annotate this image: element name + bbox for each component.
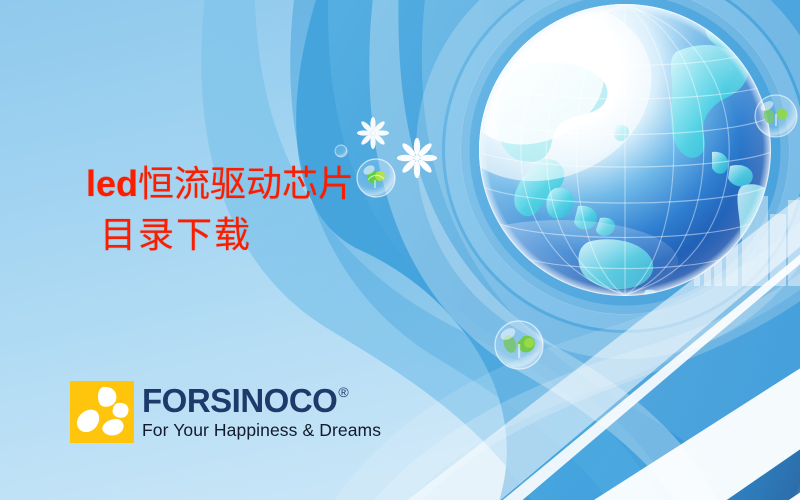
bubble-icon-small [335, 145, 347, 157]
bubble-icon-3 [755, 95, 797, 137]
logo-tagline: For Your Happiness & Dreams [142, 420, 381, 441]
globe-rim [479, 4, 771, 296]
headline-line-1: led恒流驱动芯片 [86, 164, 426, 205]
company-logo: FORSINOCO® For Your Happiness & Dreams [70, 381, 381, 443]
headline-line-1-cjk: 恒流驱动芯片 [138, 164, 354, 205]
logo-mark [70, 381, 134, 443]
logo-wordmark: FORSINOCO® [142, 384, 381, 417]
logo-wordmark-text: FORSINOCO [142, 384, 337, 417]
four-petal-pinwheel-icon [70, 381, 134, 443]
headline-line-1-latin: led [86, 163, 138, 204]
daisy-flower-icon-1 [357, 117, 389, 149]
slide-canvas: led恒流驱动芯片 目录下载 FORSINOCO® For Your Happi… [0, 0, 800, 500]
headline-line-2: 目录下载 [86, 216, 426, 256]
logo-text-block: FORSINOCO® For Your Happiness & Dreams [142, 384, 381, 441]
bubble-icon-2 [495, 321, 543, 369]
registered-trademark-icon: ® [338, 385, 348, 399]
headline-text: led恒流驱动芯片 目录下载 [86, 164, 426, 257]
